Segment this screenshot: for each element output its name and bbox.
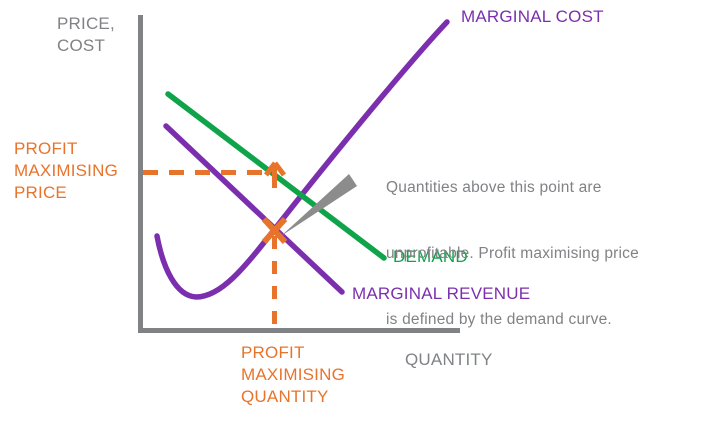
annotation-line-1: Quantities above this point are	[386, 177, 696, 199]
profit-maximising-quantity-label: PROFIT MAXIMISING QUANTITY	[241, 342, 345, 408]
annotation-line-2: unprofitable. Profit maximising price	[386, 243, 696, 265]
annotation-line-3: is defined by the demand curve.	[386, 309, 696, 331]
profit-maximising-price-label: PROFIT MAXIMISING PRICE	[14, 138, 118, 204]
y-axis-label: PRICE, COST	[57, 13, 115, 57]
marginal-cost-label: MARGINAL COST	[461, 6, 604, 28]
diagram-canvas: PRICE, COST QUANTITY PROFIT MAXIMISING P…	[0, 0, 716, 428]
price-point-arrow-icon	[266, 163, 284, 188]
annotation-note: Quantities above this point are unprofit…	[386, 133, 696, 375]
